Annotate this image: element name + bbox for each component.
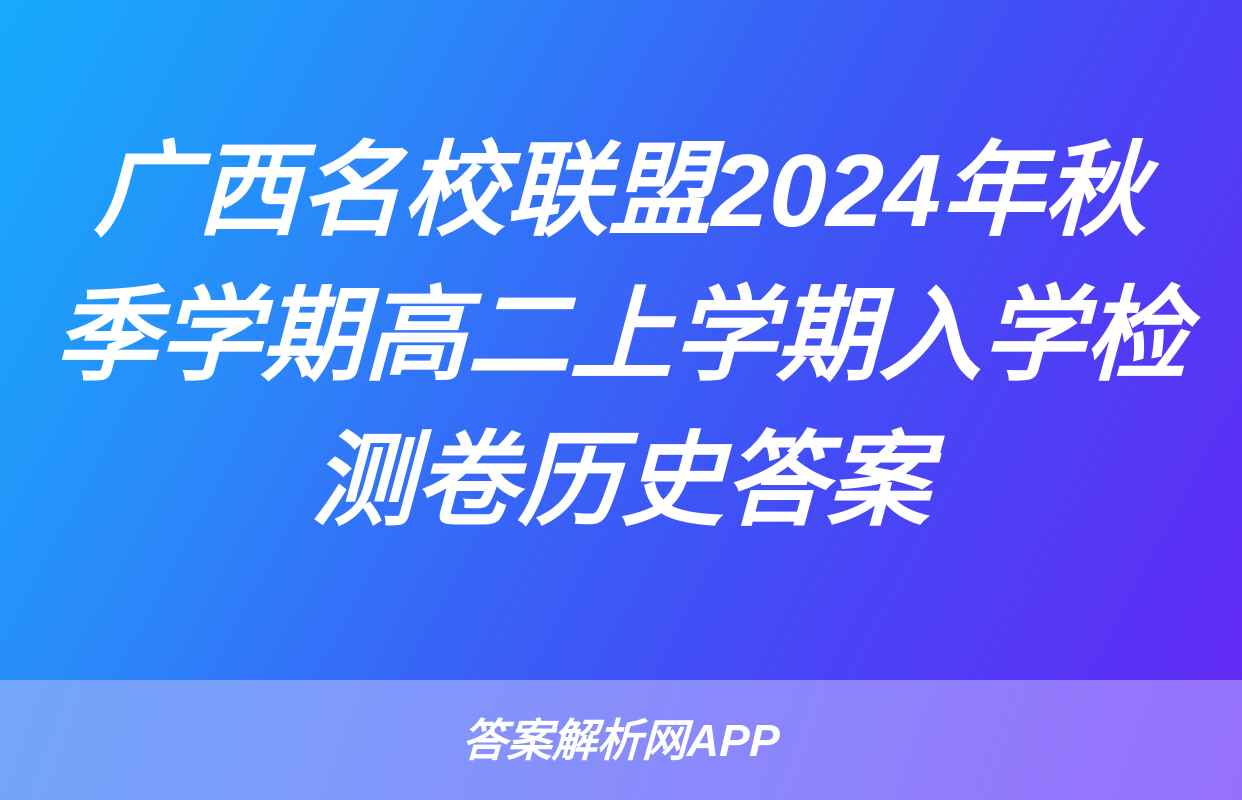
footer-banner: 答案解析网APP [0,680,1242,800]
title-line-3: 测卷历史答案 [311,408,932,553]
title-line-2: 季学期高二上学期入学检 [53,263,1189,408]
promo-card: 广西名校联盟2024年秋 季学期高二上学期入学检 测卷历史答案 答案解析网APP [0,0,1242,800]
title-line-1: 广西名校联盟2024年秋 [93,118,1149,263]
page-title: 广西名校联盟2024年秋 季学期高二上学期入学检 测卷历史答案 [0,0,1242,680]
app-brand-label: 答案解析网APP [461,718,780,763]
